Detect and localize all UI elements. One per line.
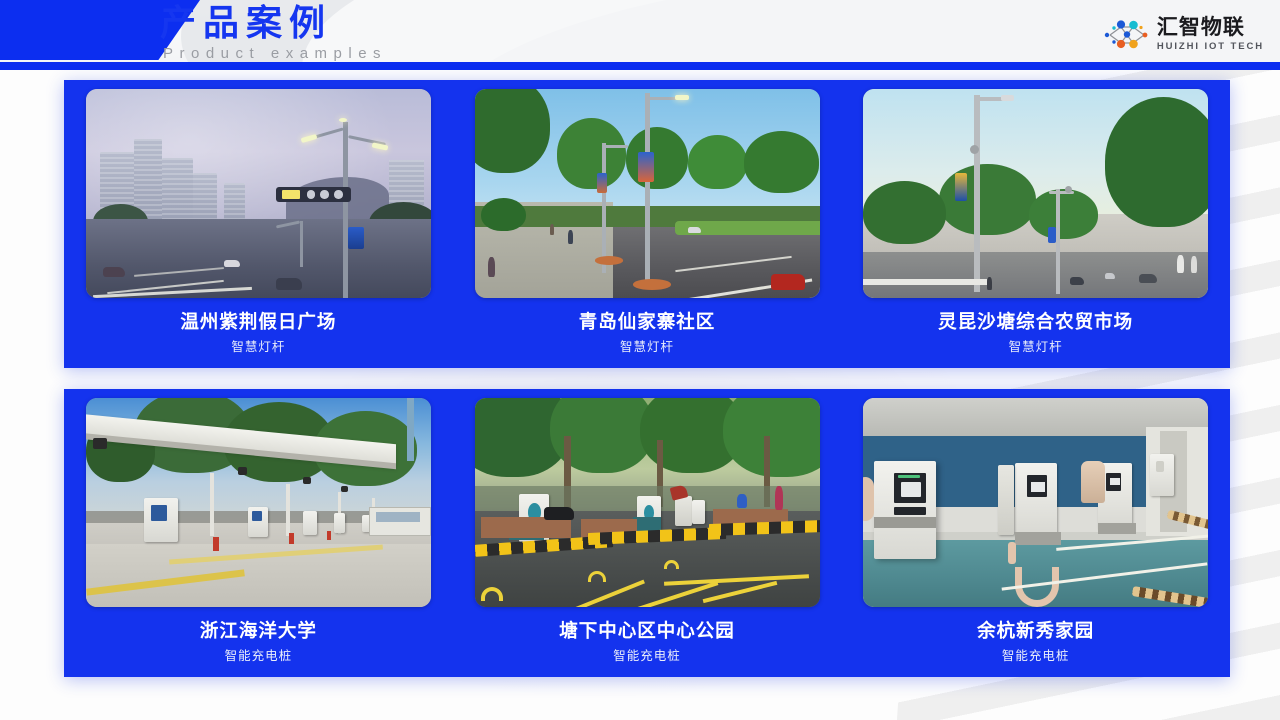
case-title: 余杭新秀家园 <box>977 619 1094 643</box>
brand-name-cn: 汇智物联 <box>1157 16 1245 39</box>
case-row: 温州紫荆假日广场 智慧灯杆 <box>64 80 1230 368</box>
charging-station-canopy-photo[interactable] <box>86 398 431 607</box>
case-row: 浙江海洋大学 智能充电桩 <box>64 389 1230 677</box>
case-subtitle: 智慧灯杆 <box>620 339 674 356</box>
case-subtitle: 智能充电桩 <box>613 648 681 665</box>
case-title: 塘下中心区中心公园 <box>559 619 735 643</box>
case-item[interactable]: 青岛仙家寨社区 智慧灯杆 <box>453 80 842 368</box>
page-header: 产品案例 Product examples <box>0 0 1280 70</box>
case-subtitle: 智能充电桩 <box>225 648 293 665</box>
brand-name-group: 汇智物联 HUIZHI IOT TECH <box>1157 16 1264 53</box>
case-subtitle: 智能充电桩 <box>1002 648 1070 665</box>
page-title: 产品案例 <box>160 2 387 44</box>
indoor-garage-charging-cabinets-photo[interactable] <box>863 398 1208 607</box>
case-item[interactable]: 灵昆沙塘综合农贸市场 智慧灯杆 <box>841 80 1230 368</box>
roadside-smart-pole-with-display-photo[interactable] <box>863 89 1208 298</box>
outdoor-parking-charging-piles-photo[interactable] <box>475 398 820 607</box>
page-subtitle: Product examples <box>163 44 387 64</box>
page-title-group: 产品案例 Product examples <box>160 2 387 64</box>
case-item[interactable]: 温州紫荆假日广场 智慧灯杆 <box>64 80 453 368</box>
case-title: 浙江海洋大学 <box>200 619 317 643</box>
case-title: 青岛仙家寨社区 <box>579 310 716 334</box>
case-item[interactable]: 塘下中心区中心公园 智能充电桩 <box>453 389 842 677</box>
community-avenue-smart-pole-rendering[interactable] <box>475 89 820 298</box>
dusk-city-street-smart-pole-photo[interactable] <box>86 89 431 298</box>
brand-name-en: HUIZHI IOT TECH <box>1157 40 1264 53</box>
case-subtitle: 智慧灯杆 <box>1009 339 1063 356</box>
case-card-row: 温州紫荆假日广场 智慧灯杆 <box>64 80 1230 368</box>
case-subtitle: 智慧灯杆 <box>231 339 285 356</box>
case-title: 温州紫荆假日广场 <box>180 310 336 334</box>
case-title: 灵昆沙塘综合农贸市场 <box>938 310 1133 334</box>
brand-logo: 汇智物联 HUIZHI IOT TECH <box>1104 16 1264 53</box>
case-item[interactable]: 余杭新秀家园 智能充电桩 <box>841 389 1230 677</box>
case-item[interactable]: 浙江海洋大学 智能充电桩 <box>64 389 453 677</box>
header-bottom-bar <box>0 62 1280 70</box>
molecule-network-icon <box>1104 18 1150 52</box>
case-card-row: 浙江海洋大学 智能充电桩 <box>64 389 1230 677</box>
